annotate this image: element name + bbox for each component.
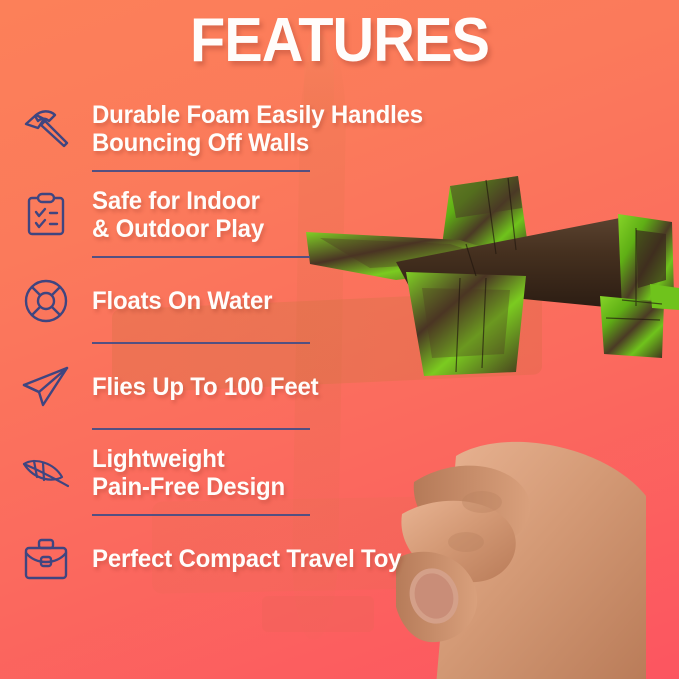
feature-label: Flies Up To 100 Feet [92, 373, 318, 401]
feature-row-lightweight: Lightweight Pain-Free Design [0, 430, 679, 516]
paper-plane-icon [0, 365, 92, 409]
feature-row-flies-100-feet: Flies Up To 100 Feet [0, 344, 679, 430]
feather-icon [0, 455, 92, 491]
feature-row-safe-indoor-outdoor: Safe for Indoor & Outdoor Play [0, 172, 679, 258]
clipboard-check-icon [0, 192, 92, 238]
feature-label: Lightweight Pain-Free Design [92, 445, 285, 501]
feature-label: Perfect Compact Travel Toy [92, 545, 401, 573]
feature-row-floats-on-water: Floats On Water [0, 258, 679, 344]
feature-label: Safe for Indoor & Outdoor Play [92, 187, 264, 243]
features-list: Durable Foam Easily Handles Bouncing Off… [0, 86, 679, 602]
features-poster: FEATURES [0, 0, 679, 679]
hammer-icon [0, 107, 92, 151]
page-title: FEATURES [24, 10, 655, 72]
feature-row-travel-toy: Perfect Compact Travel Toy [0, 516, 679, 602]
briefcase-icon [0, 537, 92, 581]
feature-label: Durable Foam Easily Handles Bouncing Off… [92, 101, 423, 157]
feature-label: Floats On Water [92, 287, 272, 315]
feature-row-durable-foam: Durable Foam Easily Handles Bouncing Off… [0, 86, 679, 172]
life-ring-icon [0, 278, 92, 324]
